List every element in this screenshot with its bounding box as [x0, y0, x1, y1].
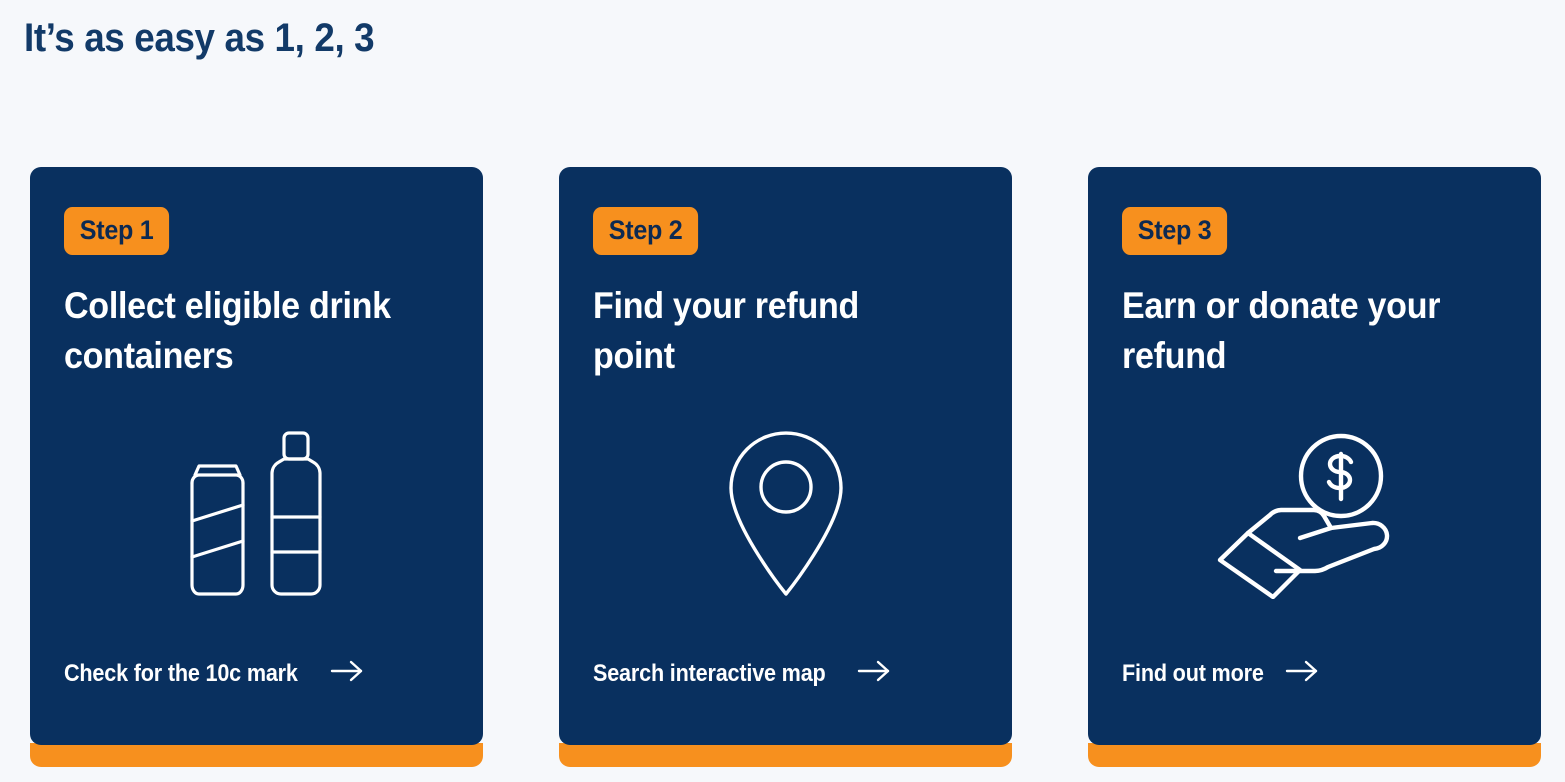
card-accent-bar-2	[559, 743, 1012, 767]
step-badge-2: Step 2	[593, 207, 698, 255]
arrow-right-icon	[1285, 660, 1319, 687]
card-link-2[interactable]: Search interactive map	[593, 660, 978, 745]
card-accent-bar-3	[1088, 743, 1541, 767]
step-title-2: Find your refund point	[593, 281, 947, 381]
step-title-3: Earn or donate your refund	[1122, 281, 1476, 381]
page-title: It’s as easy as 1, 2, 3	[24, 14, 374, 62]
hand-holding-coin-icon	[1122, 381, 1507, 660]
card-accent-bar-1	[30, 743, 483, 767]
step-card-body-3[interactable]: Step 3 Earn or donate your refund Find o…	[1088, 167, 1541, 745]
card-link-3[interactable]: Find out more	[1122, 660, 1507, 745]
map-pin-icon	[593, 381, 978, 660]
arrow-right-icon	[330, 660, 364, 687]
can-and-bottle-icon	[64, 381, 449, 660]
card-link-1[interactable]: Check for the 10c mark	[64, 660, 449, 745]
card-link-label-3: Find out more	[1122, 661, 1264, 687]
step-card-3: Step 3 Earn or donate your refund Find o…	[1088, 167, 1541, 767]
step-title-1: Collect eligible drink containers	[64, 281, 418, 381]
steps-card-grid: Step 1 Collect eligible drink containers	[30, 167, 1542, 767]
step-card-1: Step 1 Collect eligible drink containers	[30, 167, 483, 767]
step-badge-1: Step 1	[64, 207, 169, 255]
step-badge-3: Step 3	[1122, 207, 1227, 255]
step-card-2: Step 2 Find your refund point Search int…	[559, 167, 1012, 767]
step-card-body-1[interactable]: Step 1 Collect eligible drink containers	[30, 167, 483, 745]
arrow-right-icon	[857, 660, 891, 687]
card-link-label-2: Search interactive map	[593, 661, 826, 687]
step-card-body-2[interactable]: Step 2 Find your refund point Search int…	[559, 167, 1012, 745]
card-link-label-1: Check for the 10c mark	[64, 661, 298, 687]
